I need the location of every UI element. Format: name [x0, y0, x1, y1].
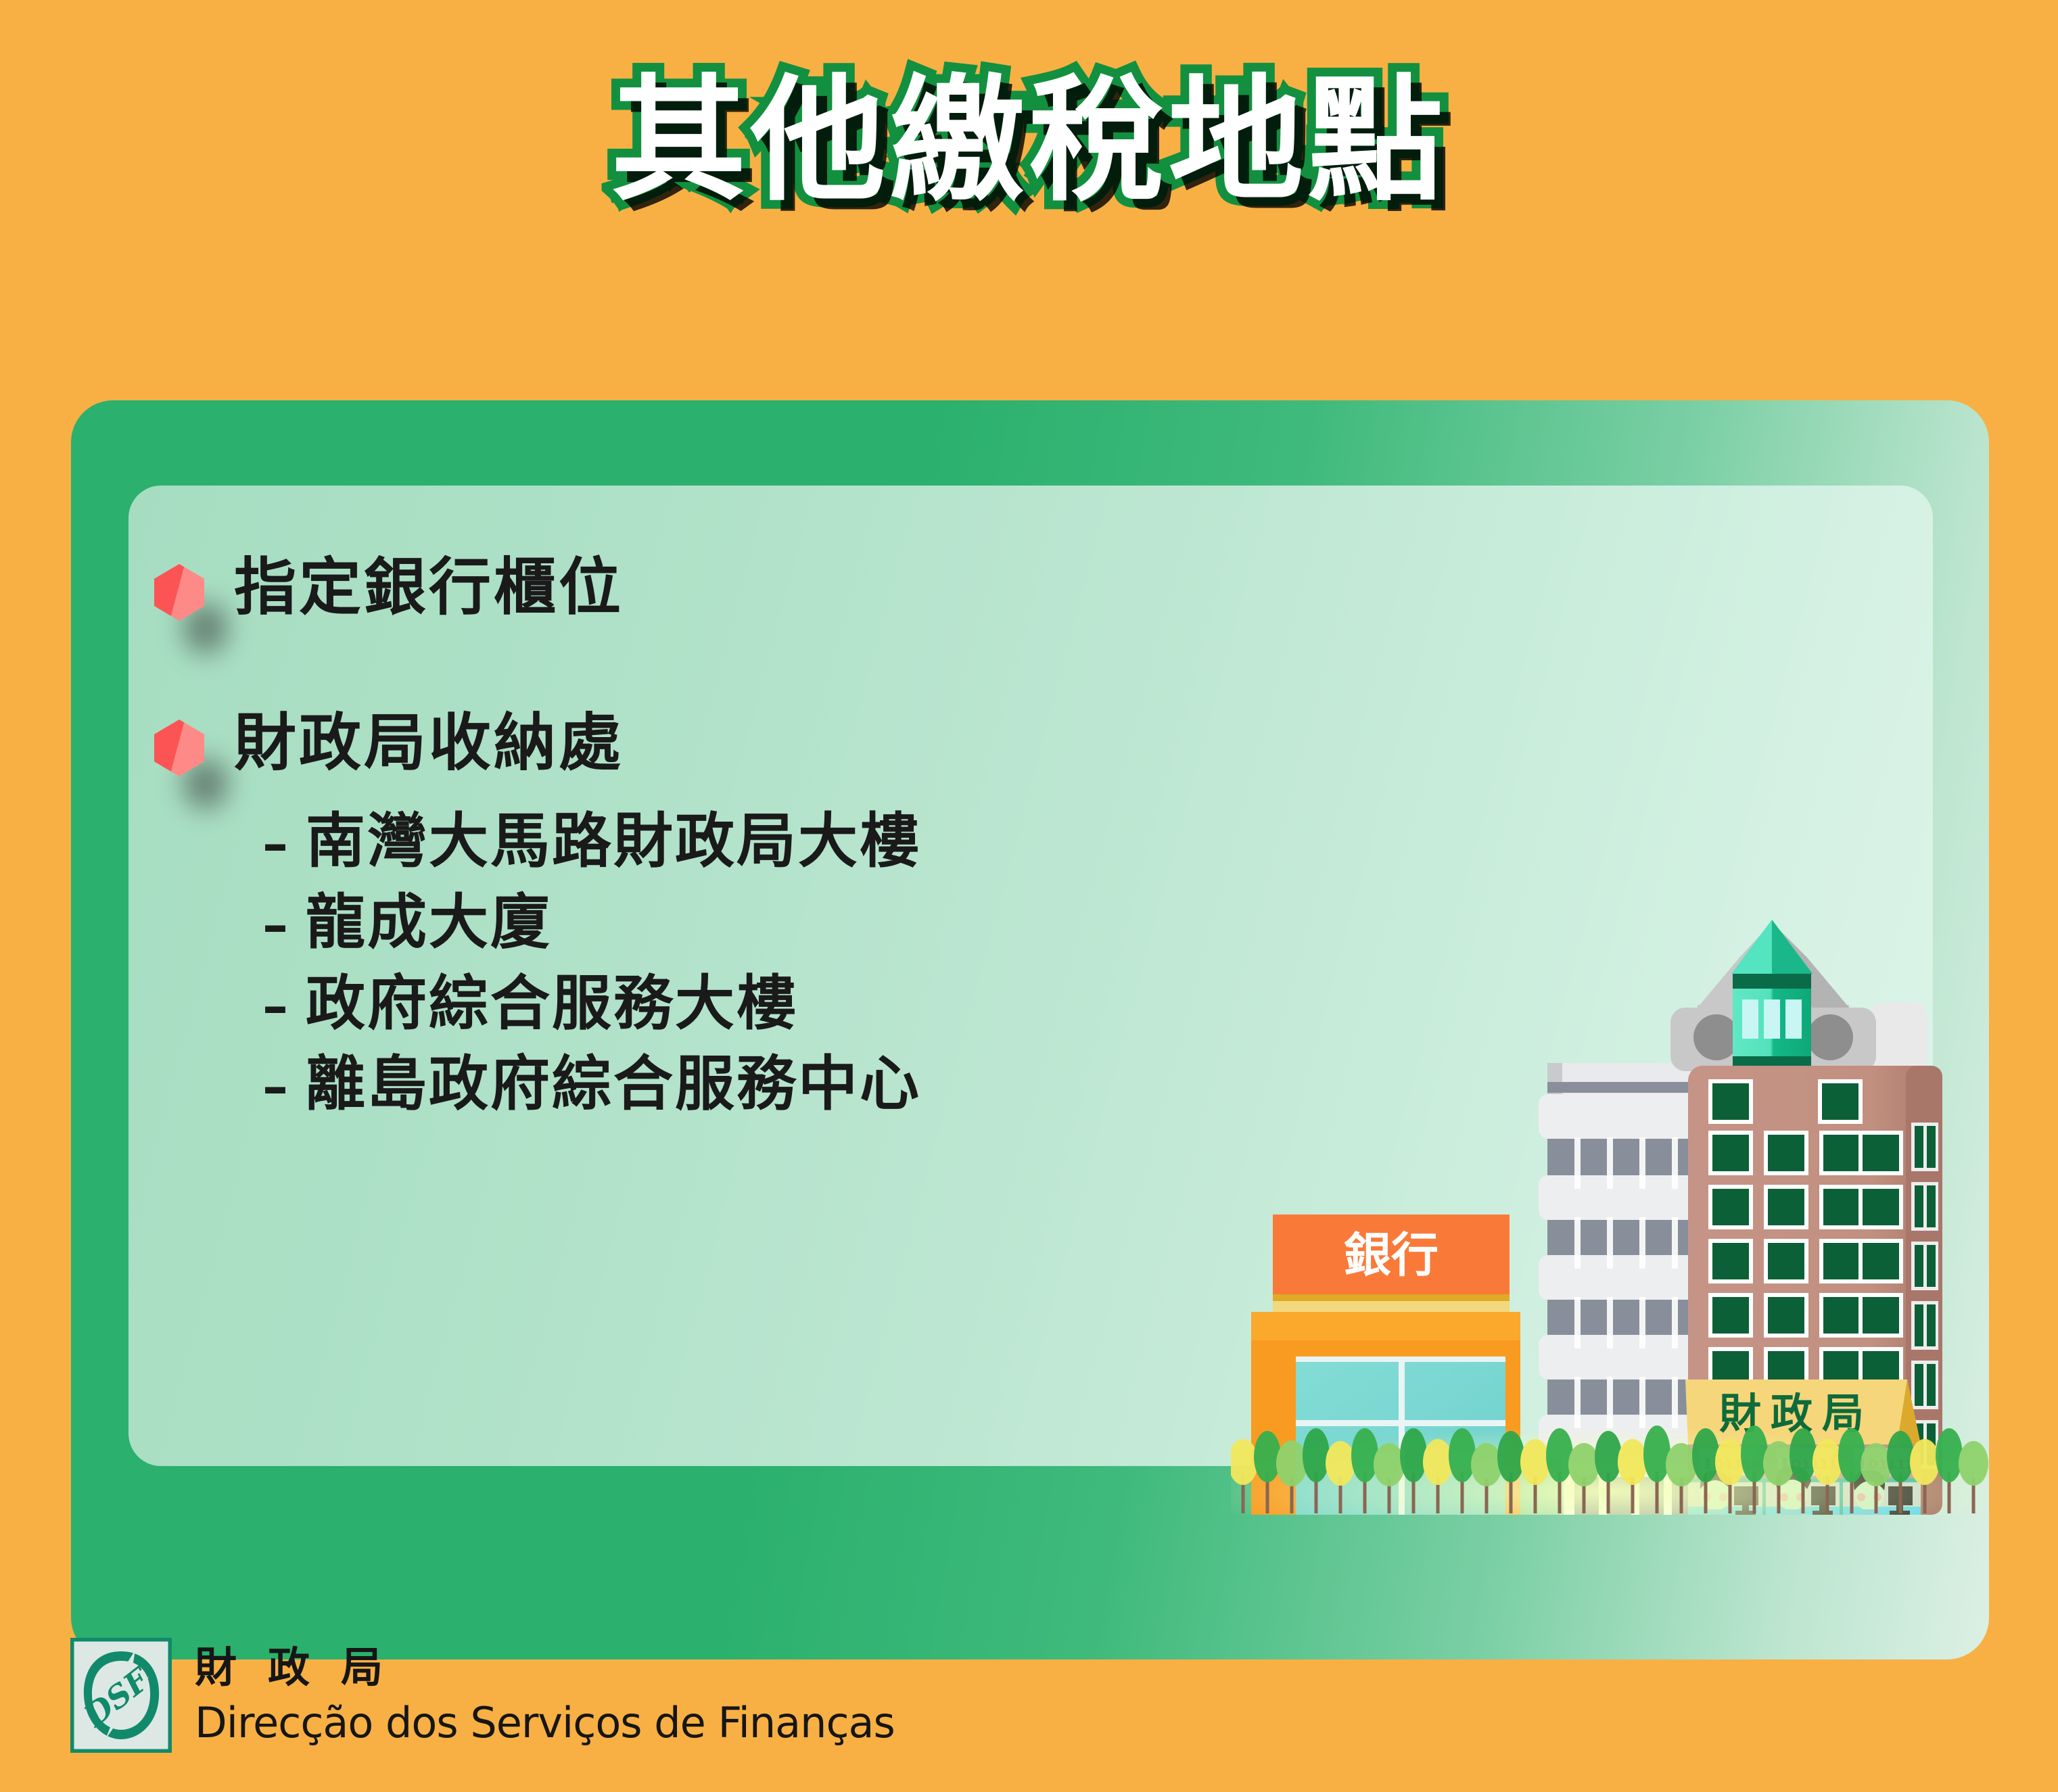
page-title: 其他繳稅地點	[611, 70, 1447, 212]
bank-sign-text: 銀行	[1344, 1227, 1439, 1283]
sub-location-list: – 南灣大馬路財政局大樓 – 龍成大廈 – 政府綜合服務大樓 – 離島政府綜合服…	[262, 806, 1439, 1119]
sub-list-item: – 離島政府綜合服務中心	[262, 1049, 1439, 1119]
sub-list-item-label: 離島政府綜合服務中心	[306, 1049, 921, 1119]
bullet-label: 財政局收納處	[234, 710, 624, 776]
footer-branding: DSF 財政局 Direcção dos Serviços de Finança…	[70, 1638, 895, 1753]
sub-list-item: – 南灣大馬路財政局大樓	[262, 806, 1439, 876]
dash-icon: –	[262, 899, 306, 951]
dash-icon: –	[262, 981, 306, 1032]
sub-list-item-label: 龍成大廈	[306, 887, 552, 958]
dash-icon: –	[262, 818, 306, 870]
list-item: 財政局收納處	[154, 710, 1439, 776]
footer-name-cn: 財政局	[195, 1642, 895, 1693]
title-banner: 其他繳稅地點	[0, 70, 2058, 212]
dsf-logo-icon: DSF	[70, 1638, 172, 1753]
list-spacer	[154, 621, 1439, 710]
footer-name-pt: Direcção dos Serviços de Finanças	[195, 1697, 895, 1749]
list-item: 指定銀行櫃位	[154, 555, 1439, 621]
hexagon-bullet-icon	[154, 720, 204, 776]
payment-locations-list: 指定銀行櫃位 財政局收納處 – 南灣大馬路財政局大樓 – 龍成大廈 – 政府綜合…	[154, 555, 1439, 1130]
dash-icon: –	[262, 1061, 306, 1112]
sub-list-item-label: 政府綜合服務大樓	[306, 968, 798, 1039]
sub-list-item-label: 南灣大馬路財政局大樓	[306, 806, 921, 876]
footer-text-block: 財政局 Direcção dos Serviços de Finanças	[195, 1642, 895, 1748]
sub-list-item: – 政府綜合服務大樓	[262, 968, 1439, 1039]
sub-list-item: – 龍成大廈	[262, 887, 1439, 958]
bullet-label: 指定銀行櫃位	[234, 555, 624, 621]
hexagon-bullet-icon	[154, 564, 204, 621]
